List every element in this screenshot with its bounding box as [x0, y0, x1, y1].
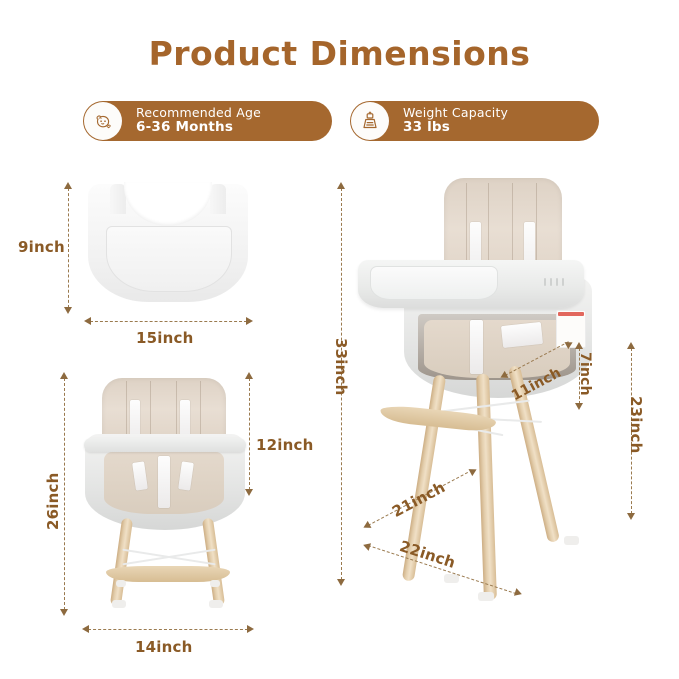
high-chair-illustration: [352, 178, 612, 598]
low-chair-seat-height-arrow-top: [245, 372, 253, 379]
badge-age-value: 6-36 Months: [136, 120, 261, 135]
product-dimensions-infographic: Product Dimensions Recommended Age 6-36 …: [0, 0, 679, 679]
badge-weight-value: 33 lbs: [403, 120, 508, 135]
tray-width-arrow-left: [84, 317, 91, 325]
high-chair-height-label: 33inch: [332, 338, 350, 395]
low-chair-seat-height-arrow-bottom: [245, 489, 253, 496]
page-title: Product Dimensions: [0, 34, 679, 73]
low-chair-seat-height-line: [249, 378, 250, 490]
badge-recommended-age: Recommended Age 6-36 Months: [83, 101, 332, 141]
tray-height-line: [68, 188, 69, 308]
high-chair-leg-height-arrow-top: [627, 342, 635, 349]
badge-age-heading: Recommended Age: [136, 106, 261, 120]
low-chair-width-label: 14inch: [135, 638, 192, 656]
tray-width-arrow-right: [246, 317, 253, 325]
tray-width-label: 15inch: [136, 329, 193, 347]
badge-weight-capacity: Weight Capacity 33 lbs: [350, 101, 599, 141]
high-chair-brace-height-arrow-bottom: [575, 403, 583, 410]
tray-height-label: 9inch: [18, 238, 65, 256]
low-chair-seat-height-label: 12inch: [256, 436, 313, 454]
low-chair-width-line: [88, 629, 248, 630]
high-chair-height-arrow-top: [337, 182, 345, 189]
badge-weight-text: Weight Capacity 33 lbs: [403, 106, 508, 135]
low-chair-height-arrow-top: [60, 372, 68, 379]
tray-height-arrow-bottom: [64, 307, 72, 314]
low-chair-width-arrow-right: [247, 625, 254, 633]
high-chair-brace-height-arrow-top: [575, 342, 583, 349]
weight-scale-icon: [351, 102, 389, 140]
badge-age-text: Recommended Age 6-36 Months: [136, 106, 261, 135]
low-chair-width-arrow-left: [82, 625, 89, 633]
high-chair-brace-height-label: 7inch: [577, 352, 593, 396]
low-chair-height-label: 26inch: [44, 473, 62, 530]
tray-illustration: [88, 184, 253, 306]
low-chair-illustration: [82, 378, 254, 608]
high-chair-height-arrow-bottom: [337, 579, 345, 586]
low-chair-height-arrow-bottom: [60, 609, 68, 616]
high-chair-leg-height-arrow-bottom: [627, 513, 635, 520]
baby-face-icon: [84, 102, 122, 140]
high-chair-leg-height-label: 23inch: [627, 396, 645, 453]
tray-height-arrow-top: [64, 182, 72, 189]
tray-width-line: [90, 321, 247, 322]
low-chair-height-line: [64, 378, 65, 610]
badge-weight-heading: Weight Capacity: [403, 106, 508, 120]
